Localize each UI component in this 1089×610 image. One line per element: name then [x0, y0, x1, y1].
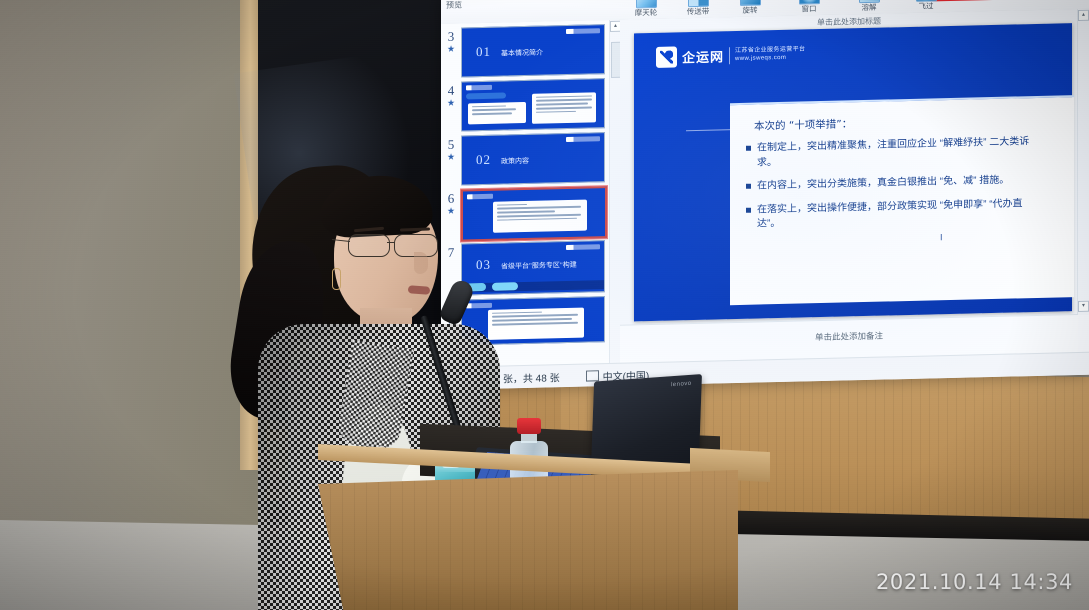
bottle-neck — [521, 433, 537, 443]
thumbnail-row-3[interactable]: 3 ★ 01基本情况简介 — [441, 24, 619, 78]
eyeglasses — [348, 234, 444, 256]
logo-tagline-url: www.jsweqs.com — [735, 54, 805, 63]
mouth — [408, 285, 431, 295]
thumb-logo-5 — [566, 136, 600, 142]
slide-bullet-text-1: 在内容上，突出分类施策，真金白银推出 “免、减” 措施。 — [757, 174, 1009, 194]
thumb-num-text-4: 4 — [448, 83, 455, 98]
slide-bullet-2: 在落实上，突出操作便捷，部分政策实现 “免申即享” “代办直达”。 — [746, 196, 1074, 233]
slide-thumbnail-4[interactable] — [461, 78, 605, 131]
thumb-big-3: 01基本情况简介 — [476, 43, 543, 61]
thumbnail-row-4[interactable]: 4 ★ — [441, 78, 619, 132]
lens-left — [348, 234, 390, 257]
bullet-square-icon — [746, 146, 751, 151]
ribbon-help-banner[interactable]: 告诉我您想要做什么... — [929, 0, 1089, 1]
thumb-line — [536, 103, 588, 106]
thumb-big-num-3: 01 — [476, 44, 491, 59]
slide-title-placeholder[interactable]: 单击此处添加标题 — [817, 16, 881, 29]
timestamp-overlay: 2021.10.14 14:34 — [876, 570, 1073, 594]
thumbnail-number-3: 3 ★ — [441, 28, 461, 78]
transition-label-0: 摩天轮 — [635, 8, 658, 18]
animation-star-icon-4: ★ — [441, 99, 461, 108]
slide-bullet-0: 在制定上，突出精准聚焦，注重回应企业 “解难纾扶” 二大类诉求。 — [746, 134, 1074, 171]
scroll-up-icon-main[interactable]: ▲ — [1078, 10, 1089, 21]
scroll-down-icon-main[interactable]: ▼ — [1078, 301, 1089, 312]
slide-bullet-text-0: 在制定上，突出精准聚焦，注重回应企业 “解难纾扶” 二大类诉求。 — [757, 135, 1037, 171]
thumb-card-right-4 — [532, 92, 596, 124]
left-wall — [0, 0, 258, 575]
current-slide[interactable]: 企运网 江苏省企业服务运营平台 www.jsweqs.com 本次的 “十项举措… — [634, 23, 1072, 321]
ime-box-icon — [586, 370, 599, 381]
thumb-logo-4 — [466, 85, 492, 91]
bullet-square-icon — [746, 184, 751, 189]
logo-divider — [729, 47, 730, 64]
podium-front-panel — [318, 470, 738, 610]
transition-label-3: 窗口 — [802, 4, 817, 13]
earring — [332, 268, 341, 290]
photograph-scene: 告诉我您想要做什么... 摩天轮 传送带 旋转 窗口 溶解 — [0, 0, 1089, 610]
slide-thumbnail-3[interactable]: 01基本情况简介 — [461, 24, 605, 77]
transition-label-4: 溶解 — [862, 3, 877, 12]
thumb-line — [536, 111, 576, 113]
transition-item-5[interactable]: 飞过 — [903, 0, 949, 11]
thumb-line — [472, 105, 506, 107]
notes-placeholder[interactable]: 单击此处添加备注 — [815, 330, 883, 344]
transition-item-4[interactable]: 溶解 — [846, 0, 892, 13]
thumb-logo-7 — [566, 244, 600, 250]
transition-label-1: 传送带 — [687, 7, 710, 17]
thumb-line — [472, 109, 516, 111]
thumbnail-scrollbar[interactable]: ▲ — [609, 20, 620, 364]
transition-item-2[interactable]: 旋转 — [727, 0, 773, 16]
projection-screen: 告诉我您想要做什么... 摩天轮 传送带 旋转 窗口 溶解 — [441, 0, 1089, 390]
slide-bullet-1: 在内容上，突出分类施策，真金白银推出 “免、减” 措施。 — [746, 172, 1074, 194]
logo-name: 企运网 — [682, 46, 724, 66]
slide-heading: 本次的 “十项举措”： — [754, 111, 1074, 134]
nose — [414, 252, 428, 274]
thumbnail-number-4: 4 ★ — [441, 82, 461, 132]
qiyunwang-logo-icon — [656, 46, 677, 67]
transition-item-3[interactable]: 窗口 — [786, 0, 832, 14]
slide-content-card[interactable]: 本次的 “十项举措”： 在制定上，突出精准聚焦，注重回应企业 “解难纾扶” 二大… — [730, 95, 1074, 305]
logo-tagline: 江苏省企业服务运营平台 www.jsweqs.com — [735, 46, 805, 63]
slide-editing-area[interactable]: 单击此处添加标题 企运网 江苏省企业服务运营平台 www.jsweqs.com … — [620, 9, 1078, 326]
transition-item-1[interactable]: 传送带 — [675, 0, 721, 17]
thumb-line — [536, 95, 592, 98]
transition-label-2: 旋转 — [743, 6, 758, 15]
transition-label-5: 飞过 — [919, 1, 934, 10]
text-cursor-icon: I — [940, 232, 943, 242]
thumb-line — [472, 113, 512, 115]
thumb-pill-4 — [466, 92, 506, 99]
glasses-bridge — [387, 242, 395, 243]
thumb-line — [536, 107, 592, 110]
preview-label: 预览 — [446, 0, 462, 11]
slide-bullet-text-2: 在落实上，突出操作便捷，部分政策实现 “免申即享” “代办直达”。 — [757, 196, 1037, 232]
thumb-line — [536, 99, 592, 102]
bottle-cap — [517, 418, 541, 434]
laptop-brand-logo: lenovo — [671, 381, 692, 388]
thumb-logo-3 — [566, 28, 600, 34]
slide-logo: 企运网 江苏省企业服务运营平台 www.jsweqs.com — [656, 43, 805, 68]
animation-star-icon-3: ★ — [441, 45, 461, 54]
transition-item-0[interactable]: 摩天轮 — [623, 0, 669, 18]
thumb-num-text-3: 3 — [448, 29, 455, 44]
thumb-card-left-4 — [468, 102, 526, 124]
bullet-square-icon — [746, 207, 751, 212]
slide-area-scrollbar[interactable]: ▲ ▼ — [1077, 9, 1089, 315]
thumb-caption-3: 基本情况简介 — [501, 49, 543, 58]
